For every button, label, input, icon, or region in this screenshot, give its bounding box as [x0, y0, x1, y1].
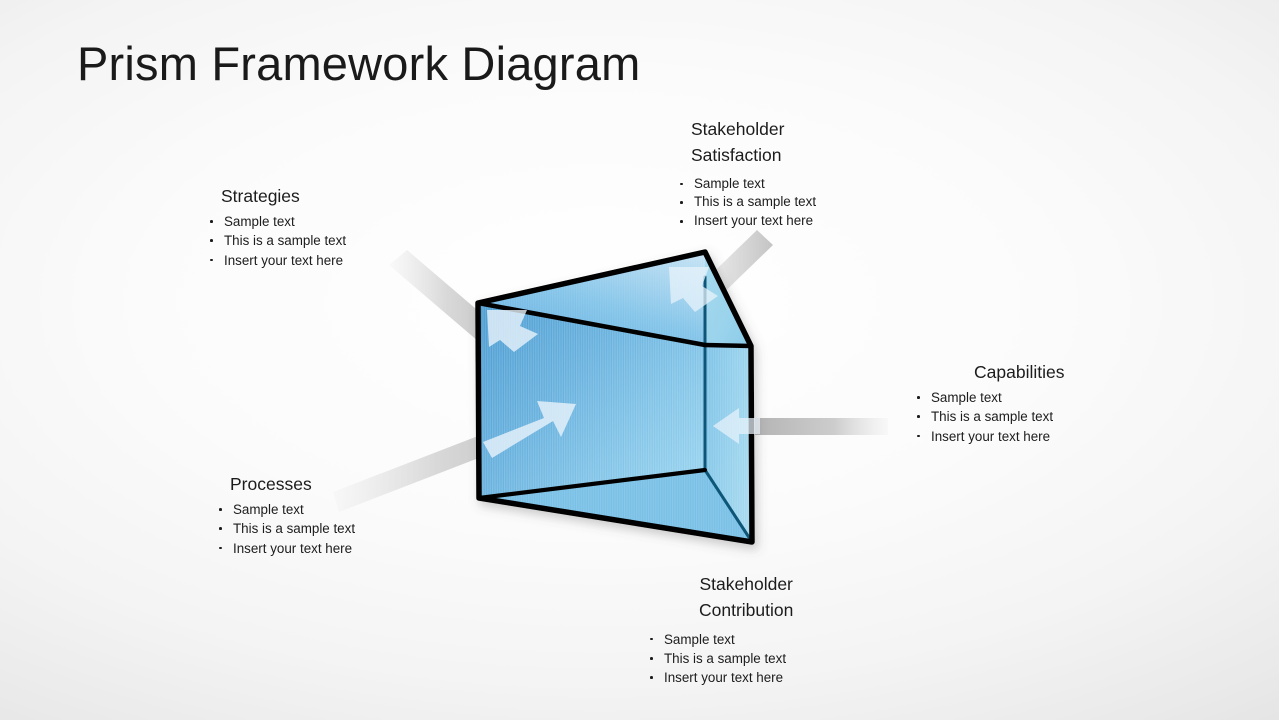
list-item: This is a sample text	[216, 519, 355, 538]
slide-canvas: Prism Framework Diagram	[0, 0, 1279, 720]
callout-satisfaction-heading-line1: Stakeholder	[691, 116, 816, 142]
list-item: Sample text	[216, 500, 355, 519]
callout-processes-list: Sample text This is a sample text Insert…	[216, 500, 355, 557]
callout-capabilities-heading: Capabilities	[974, 359, 1064, 385]
callout-stakeholder-satisfaction: Stakeholder Satisfaction Sample text Thi…	[677, 116, 816, 231]
callout-contribution-list: Sample text This is a sample text Insert…	[647, 630, 793, 688]
list-item: This is a sample text	[647, 649, 793, 668]
callout-contribution-heading-line1: Stakeholder	[699, 571, 793, 597]
list-item: This is a sample text	[677, 193, 816, 212]
list-item: Sample text	[207, 212, 346, 231]
list-item: Sample text	[647, 630, 793, 649]
list-item: This is a sample text	[207, 231, 346, 250]
callout-satisfaction-heading-line2: Satisfaction	[691, 142, 816, 168]
callout-strategies-list: Sample text This is a sample text Insert…	[207, 212, 346, 269]
callout-stakeholder-contribution: Stakeholder Contribution Sample text Thi…	[647, 571, 793, 688]
list-item: Insert your text here	[647, 668, 793, 687]
prism-diagram	[0, 0, 1279, 720]
list-item: Insert your text here	[216, 539, 355, 558]
callout-processes: Processes Sample text This is a sample t…	[216, 471, 355, 558]
list-item: This is a sample text	[914, 407, 1064, 426]
callout-satisfaction-list: Sample text This is a sample text Insert…	[677, 175, 816, 231]
callout-processes-heading: Processes	[230, 471, 355, 497]
list-item: Insert your text here	[207, 251, 346, 270]
list-item: Sample text	[914, 388, 1064, 407]
capabilities-arrow	[755, 418, 888, 435]
list-item: Insert your text here	[914, 427, 1064, 446]
list-item: Sample text	[677, 175, 816, 194]
list-item: Insert your text here	[677, 212, 816, 231]
callout-capabilities: Capabilities Sample text This is a sampl…	[914, 359, 1064, 446]
callout-capabilities-list: Sample text This is a sample text Insert…	[914, 388, 1064, 445]
callout-strategies: Strategies Sample text This is a sample …	[207, 183, 346, 270]
callout-contribution-heading-line2: Contribution	[699, 597, 793, 623]
callout-strategies-heading: Strategies	[221, 183, 346, 209]
